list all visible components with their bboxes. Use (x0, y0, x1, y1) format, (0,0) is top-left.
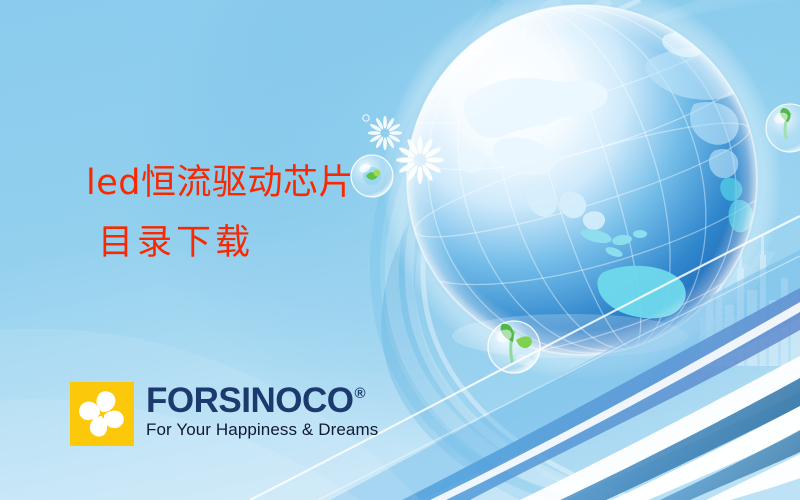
headline-line-1: led恒流驱动芯片 (86, 166, 354, 201)
brand-wordmark: FORSINOCO ® (146, 384, 378, 417)
bubble-leaf-sprout (488, 321, 540, 373)
registered-trademark-icon: ® (354, 386, 365, 401)
bubble-globe-small (351, 155, 393, 197)
headline-line-2: 目录下载 (98, 226, 354, 261)
logo-textblock: FORSINOCO ® For Your Happiness & Dreams (146, 382, 378, 440)
brand-logo[interactable]: FORSINOCO ® For Your Happiness & Dreams (70, 382, 378, 446)
promo-banner: led恒流驱动芯片 目录下载 FORSINOCO ® For Your Happ… (0, 0, 800, 500)
brand-name: FORSINOCO (146, 384, 353, 417)
four-petal-pinwheel-icon (70, 382, 134, 446)
brand-tagline: For Your Happiness & Dreams (146, 420, 378, 440)
headline-block: led恒流驱动芯片 目录下载 (86, 166, 354, 261)
